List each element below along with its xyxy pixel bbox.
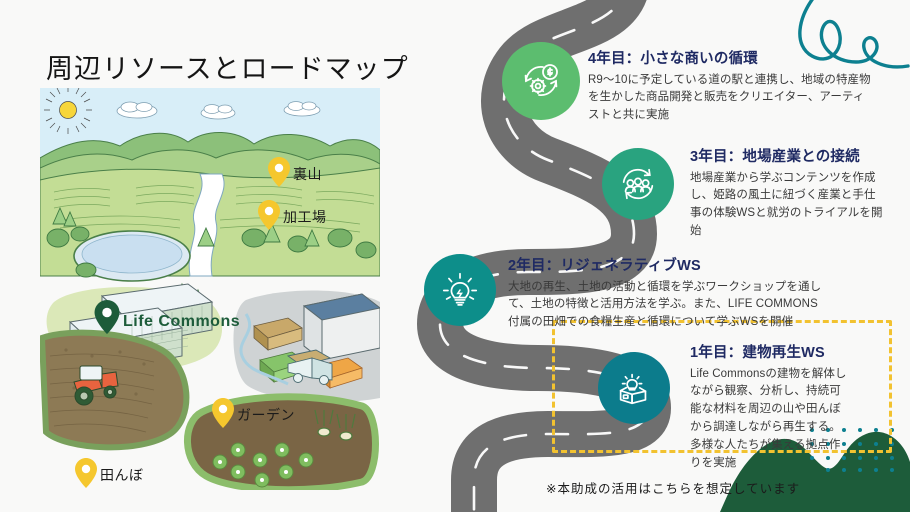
footnote-text: ※本助成の活用はこちらを想定しています [546,478,800,497]
gear-money-cycle-icon [519,59,563,103]
decorative-green-blob [0,0,190,44]
roadmap-circle-year3[interactable] [602,148,674,220]
map-pin-garden[interactable]: ガーデン [212,398,295,428]
slide-canvas: 周辺リソースとロードマップ [0,0,910,512]
roadmap-heading: 1年目：建物再生WS [690,344,850,364]
roadmap-item-year4: 4年目：小さな商いの循環 R9〜10に予定している道の駅と連携し、地域の特産物を… [588,50,876,125]
roadmap-body: R9〜10に予定している道の駅と連携し、地域の特産物を生かした商品開発と販売をク… [588,72,876,125]
map-pin-kakoujou[interactable]: 加工場 [258,200,327,230]
roadmap-item-year2: 2年目：リジェネラティブWS 大地の再生、土地の活動と循環を学ぶワークショップを… [508,257,828,332]
location-pin-icon [94,300,120,334]
people-cycle-icon [617,163,659,205]
map-pin-urayama[interactable]: 裏山 [268,157,322,187]
roadmap-item-year1: 1年目：建物再生WS Life Commonsの建物を解体しながら観察、分析し、… [690,344,850,472]
roadmap-circle-year2[interactable] [424,254,496,326]
map-pin-label: Life Commons [123,313,240,334]
location-pin-icon [268,157,290,187]
map-pin-label: 加工場 [283,207,327,230]
location-pin-icon [212,398,234,428]
resource-map-illustration [40,88,380,490]
roadmap-heading: 2年目：リジェネラティブWS [508,257,828,277]
map-pin-tanbo[interactable]: 田んぼ [75,458,144,488]
roadmap-body: 地場産業から学ぶコンテンツを作成し、姫路の風土に紐づく産業と手仕事の体験WSと就… [690,170,886,241]
map-pin-label: 裏山 [293,164,322,187]
page-title: 周辺リソースとロードマップ [46,47,409,86]
map-pin-label: ガーデン [237,405,295,428]
map-pin-life-commons[interactable]: Life Commons [94,300,240,334]
location-pin-icon [258,200,280,230]
roadmap-heading: 4年目：小さな商いの循環 [588,50,876,70]
roadmap-circle-year4[interactable] [502,42,580,120]
roadmap-item-year3: 3年目：地場産業との接続 地場産業から学ぶコンテンツを作成し、姫路の風土に紐づく… [690,148,886,241]
roadmap-circle-year1[interactable] [598,352,670,424]
roadmap-body: Life Commonsの建物を解体しながら観察、分析し、持続可能な材料を周辺の… [690,366,850,473]
lightbulb-energy-icon [439,269,481,311]
box-lightbulb-icon [613,367,655,409]
roadmap-body: 大地の再生、土地の活動と循環を学ぶワークショップを通して、土地の特徴と活用方法を… [508,279,828,332]
map-pin-label: 田んぼ [100,465,144,488]
roadmap-heading: 3年目：地場産業との接続 [690,148,886,168]
location-pin-icon [75,458,97,488]
